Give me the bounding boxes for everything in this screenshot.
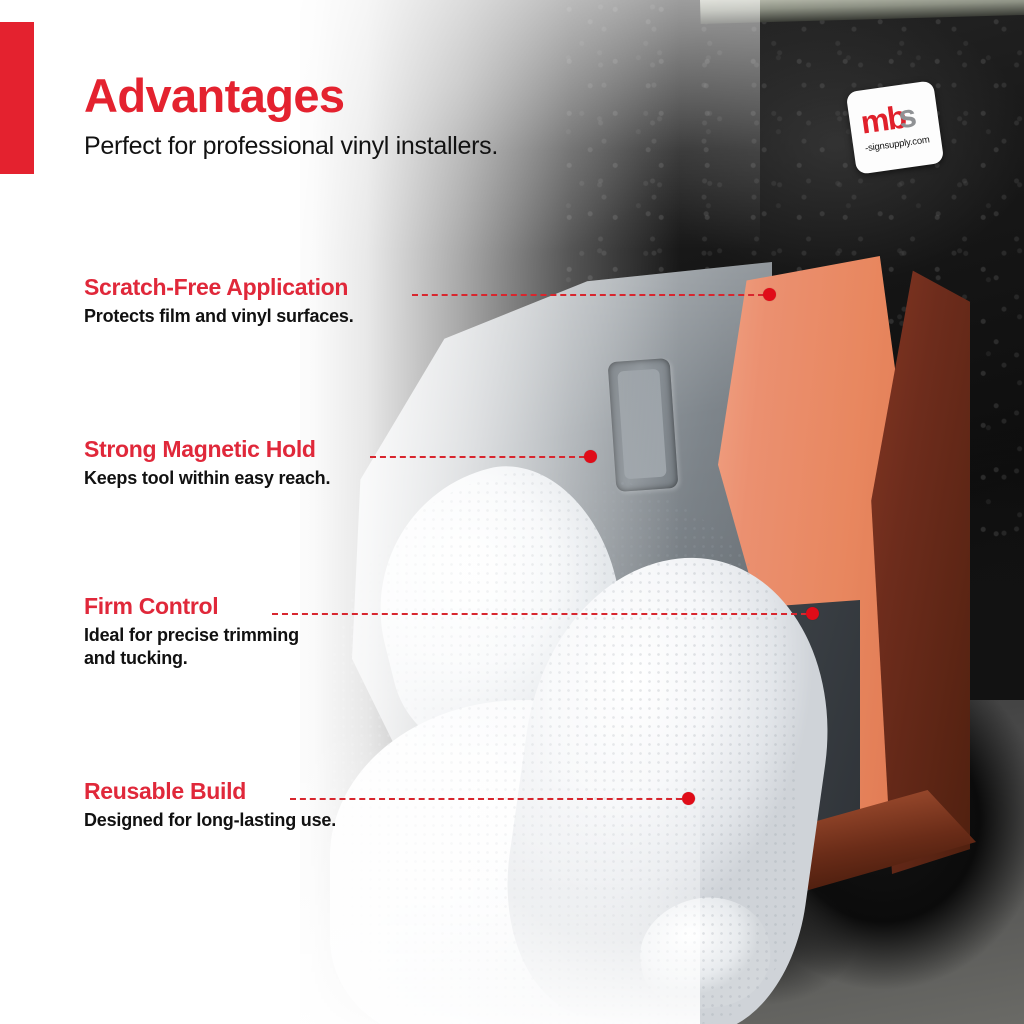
feature-item-reusable-build: Reusable Build Designed for long-lasting…: [84, 779, 336, 832]
feature-item-scratch-free: Scratch-Free Application Protects film a…: [84, 275, 354, 328]
leader-line-magnetic-hold: [370, 456, 585, 458]
feature-description: Designed for long-lasting use.: [84, 809, 336, 832]
leader-dot-reusable-build: [682, 792, 695, 805]
logo-mark-grey: s: [896, 99, 916, 133]
feature-description: Keeps tool within easy reach.: [84, 467, 330, 490]
feature-title: Scratch-Free Application: [84, 275, 354, 299]
feature-title: Strong Magnetic Hold: [84, 437, 330, 461]
photo-fade-bottom: [0, 724, 700, 1024]
page-subtitle: Perfect for professional vinyl installer…: [84, 133, 498, 161]
leader-dot-magnetic-hold: [584, 450, 597, 463]
red-accent-bar: [0, 22, 34, 174]
feature-description: Protects film and vinyl surfaces.: [84, 305, 354, 328]
feature-title: Firm Control: [84, 594, 299, 618]
page-title: Advantages: [84, 72, 344, 119]
leader-dot-firm-control: [806, 607, 819, 620]
advantages-infographic: Advantages Perfect for professional viny…: [0, 0, 1024, 1024]
leader-dot-scratch-free: [763, 288, 776, 301]
leader-line-scratch-free: [412, 294, 764, 296]
brand-logo-badge[interactable]: mb s -signsupply.com: [846, 80, 945, 174]
leader-line-firm-control: [272, 613, 807, 615]
feature-item-firm-control: Firm Control Ideal for precise trimming …: [84, 594, 299, 670]
feature-item-magnetic-hold: Strong Magnetic Hold Keeps tool within e…: [84, 437, 330, 490]
feature-description: Ideal for precise trimming and tucking.: [84, 624, 299, 670]
leader-line-reusable-build: [290, 798, 682, 800]
